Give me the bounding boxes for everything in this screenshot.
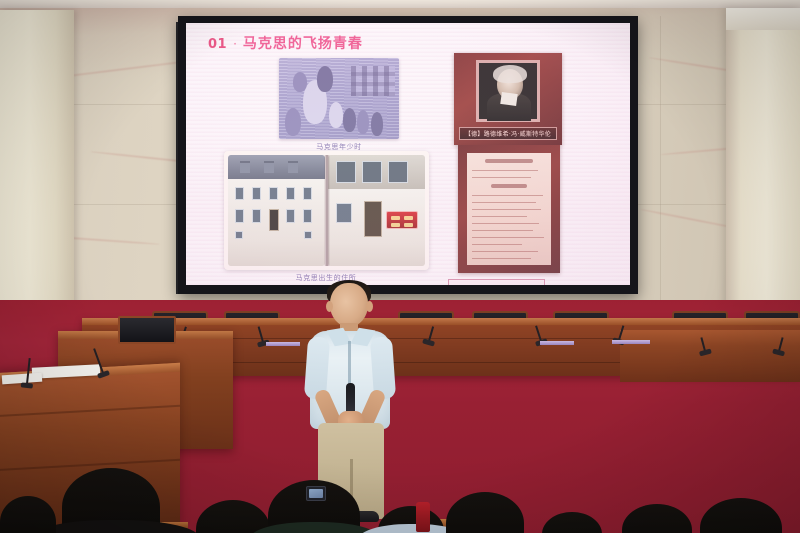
residence-photo-1 [228,155,325,266]
figure-westphalen-portrait: 【德】路德维希·冯·威斯特华伦 [454,53,562,145]
presenter-head [330,283,368,327]
slide-title-separator: · [231,37,239,51]
wall-pillar-left [0,10,74,310]
caption-marx-certificate-box: 马克思的中学毕业证书 [448,279,545,285]
wall-pillar-right [726,8,800,320]
presenter [304,283,396,498]
slide-title-text: 马克思的飞扬青春 [243,33,363,53]
audience-phone [306,486,326,501]
projection-screen: 01 · 马克思的飞扬青春 马克思年少时 [178,16,638,294]
caption-westphalen: 【德】路德维希·冯·威斯特华伦 [465,129,551,138]
desk-nameplate [612,340,650,344]
presenter-ear [366,301,373,312]
water-bottle [416,502,430,532]
desk-nameplate [266,342,300,346]
desk-nameplate [540,341,574,345]
caption-marx-residence: 马克思出生的住所 [246,273,406,283]
caption-young-marx-family: 马克思年少时 [259,142,419,152]
figure-marx-residence [224,151,429,270]
slide-surface: 01 · 马克思的飞扬青春 马克思年少时 [186,23,630,285]
panel-desk-right-section [620,330,800,382]
figure-marx-certificate [458,145,560,273]
portrait-caption-bar: 【德】路德维希·冯·威斯特华伦 [459,127,557,140]
lectern-monitor [118,316,176,344]
figure-young-marx-family [279,58,399,139]
slide-title: 01 · 马克思的飞扬青春 [208,33,363,53]
presenter-ear [326,301,333,312]
slide-title-number: 01 [208,37,227,52]
lecture-hall-photo: 01 · 马克思的飞扬青春 马克思年少时 [0,0,800,533]
residence-photo-2 [328,155,425,266]
